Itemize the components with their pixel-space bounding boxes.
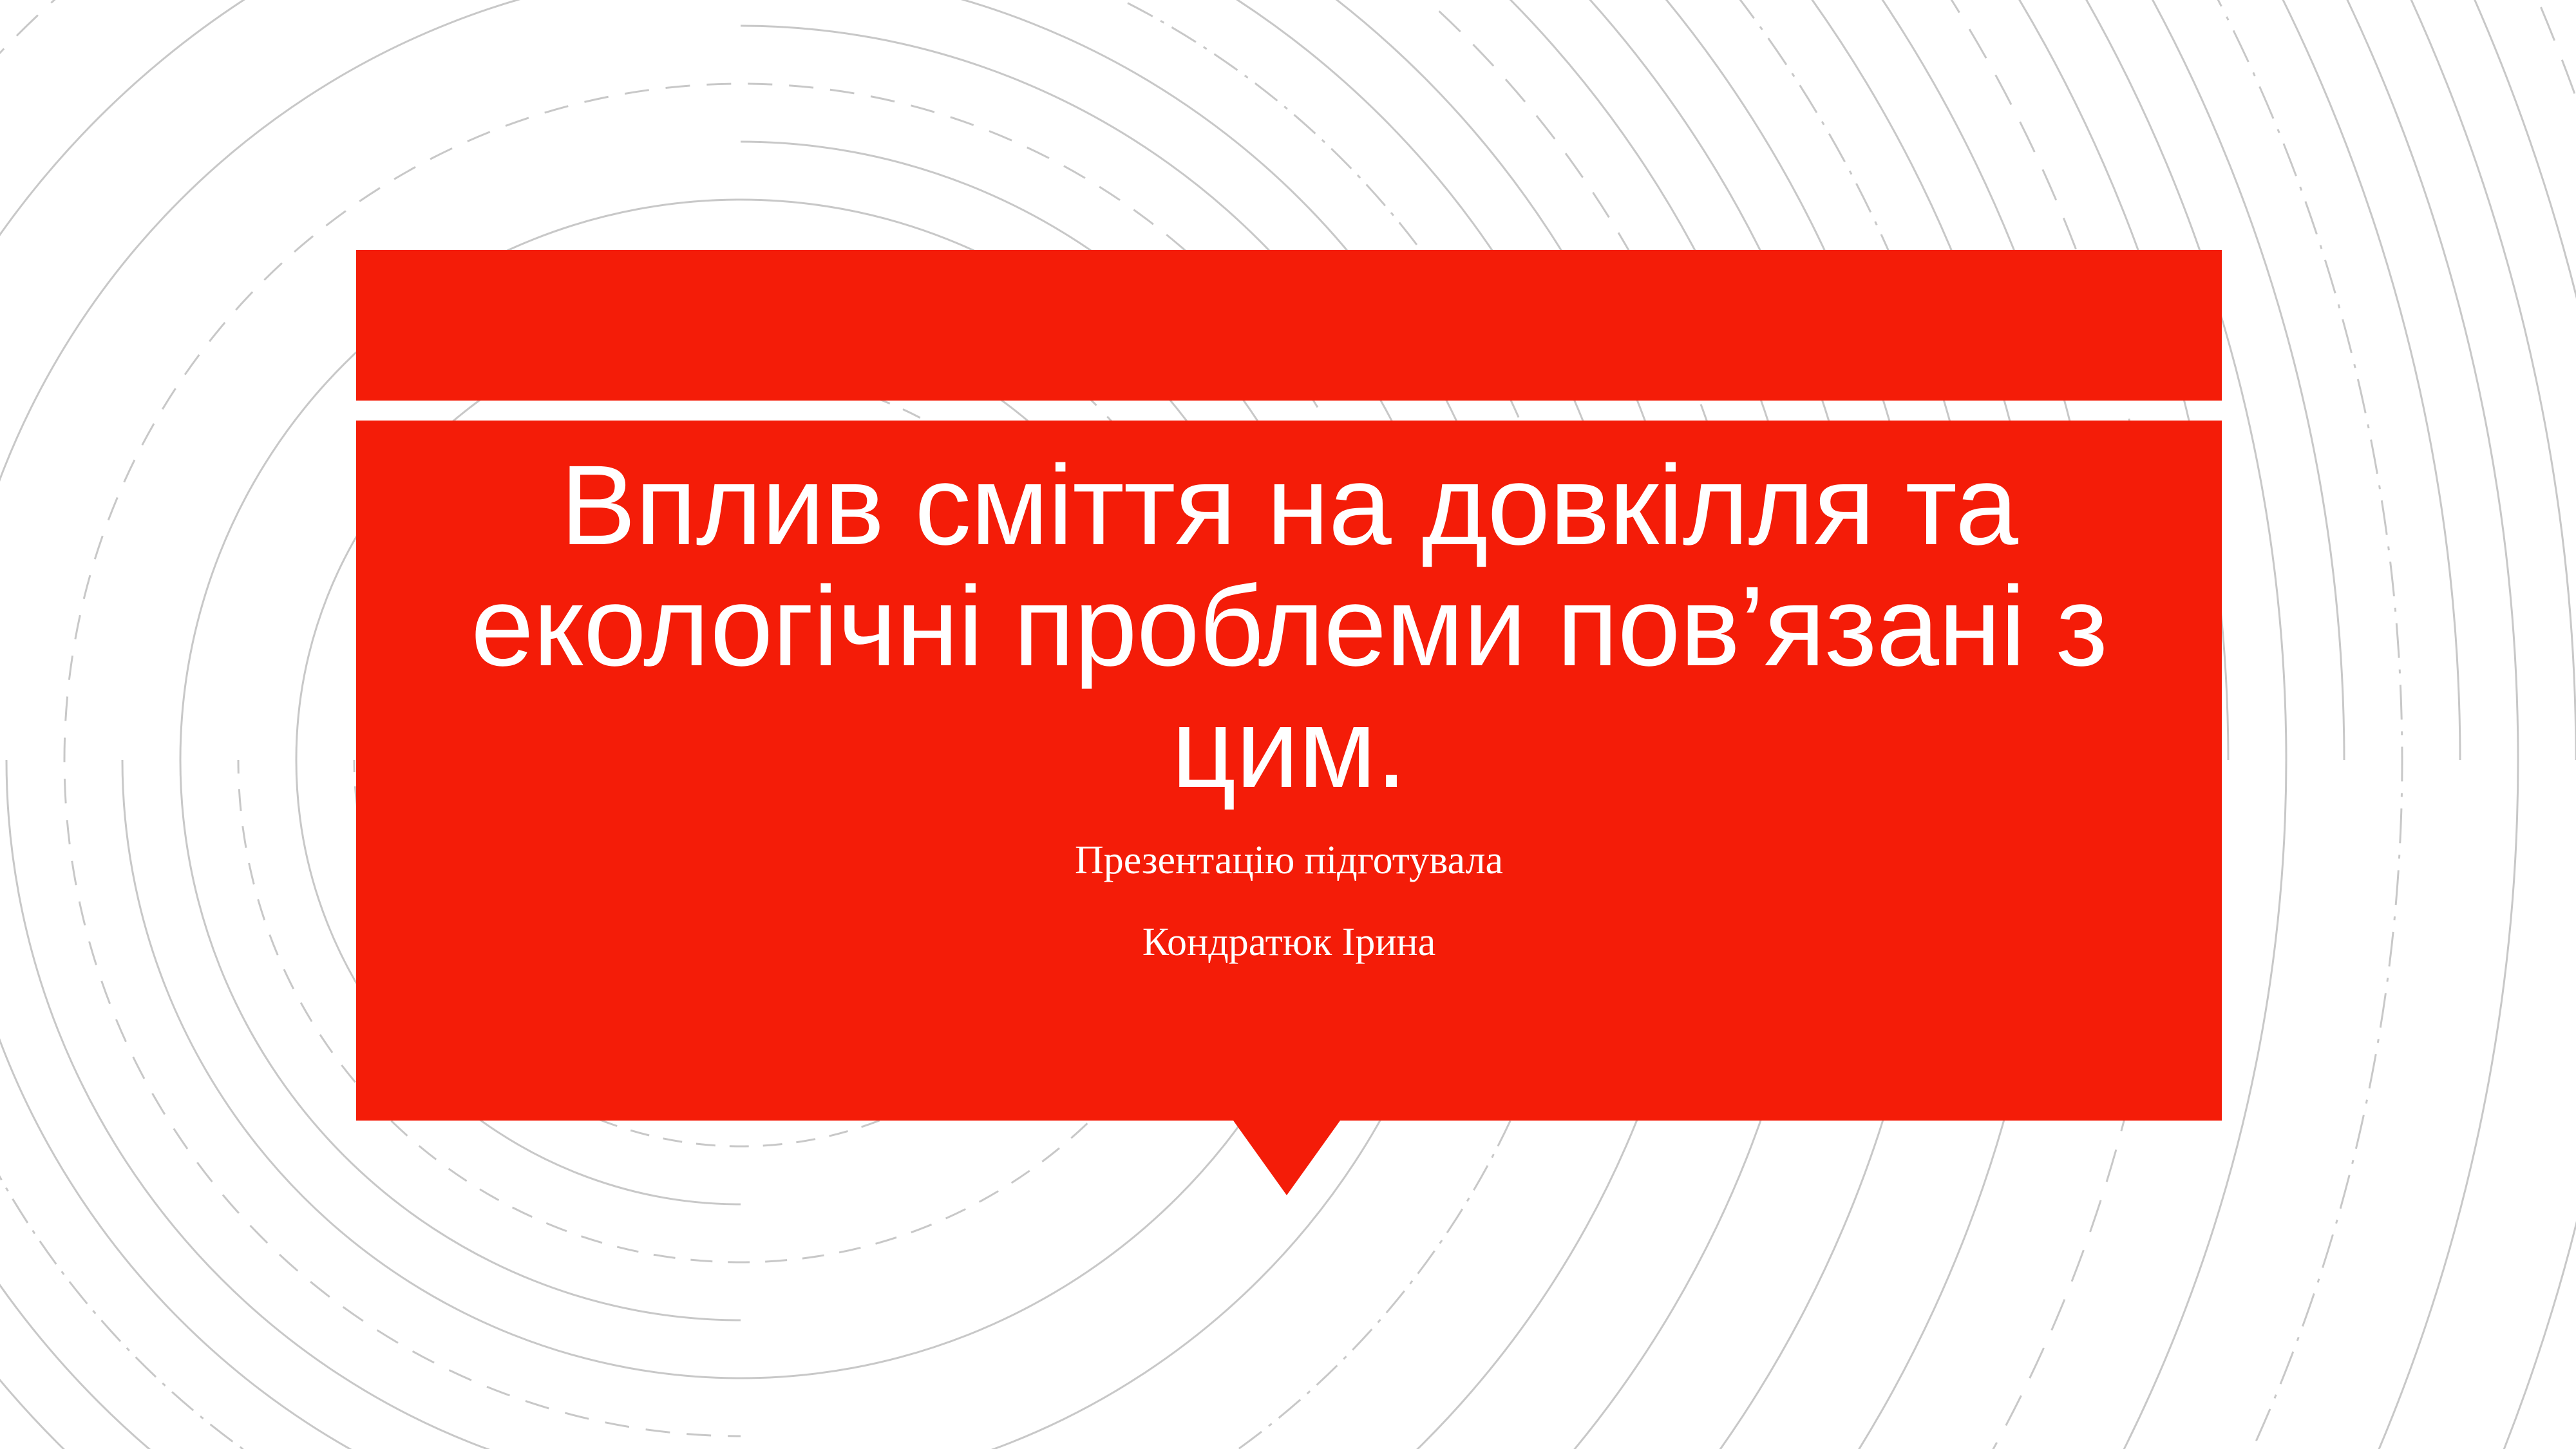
title-top-accent-bar (356, 250, 2222, 401)
title-line-1: Вплив сміття на довкілля та (356, 445, 2222, 566)
subtitle-line-1: Презентацію підготувала (356, 820, 2222, 902)
page-subtitle: Презентацію підготувала Кондратюк Ірина (356, 820, 2222, 983)
title-main-panel: Вплив сміття на довкілля та екологічні п… (356, 421, 2222, 1121)
title-block: Вплив сміття на довкілля та екологічні п… (356, 250, 2222, 1121)
subtitle-line-2: Кондратюк Ірина (356, 902, 2222, 983)
accent-bar-divider (356, 401, 2222, 421)
title-line-3: цим. (356, 688, 2222, 809)
presentation-title-slide: Вплив сміття на довкілля та екологічні п… (0, 0, 2576, 1449)
panel-pointer-triangle (1233, 1121, 1340, 1195)
title-line-2: екологічні проблеми пов’язані з (356, 566, 2222, 687)
page-title: Вплив сміття на довкілля та екологічні п… (356, 421, 2222, 809)
